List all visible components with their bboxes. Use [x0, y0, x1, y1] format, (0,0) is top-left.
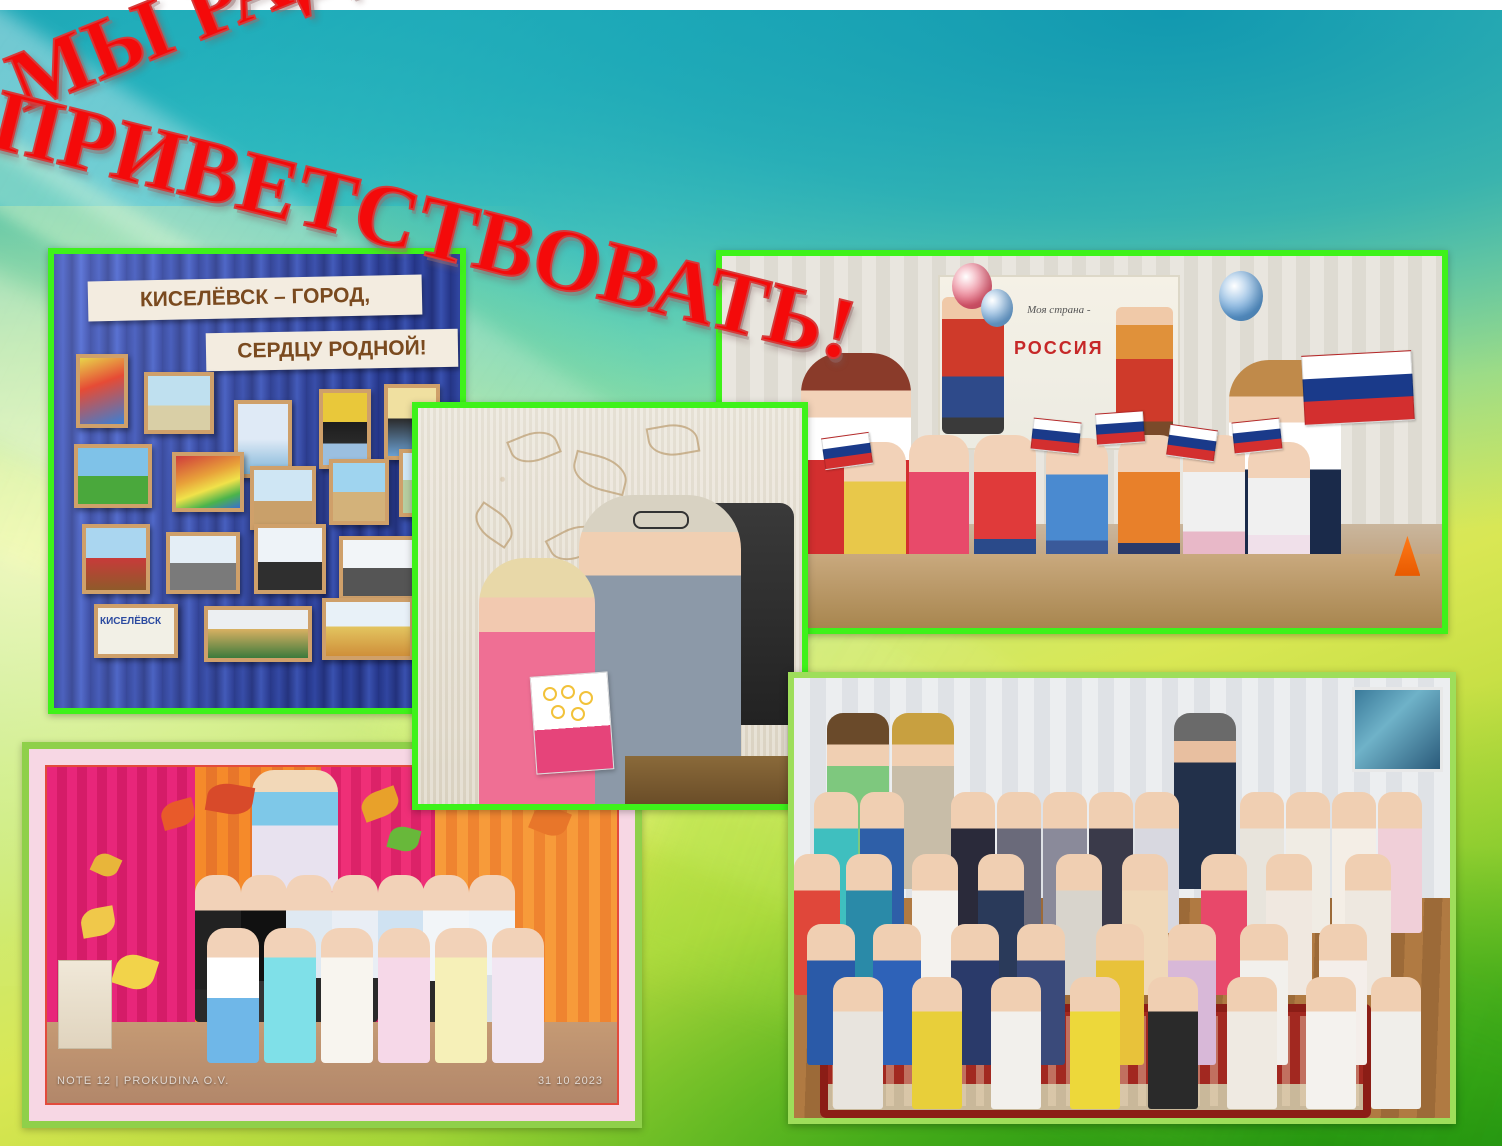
wall-sign-line-1: КИСЕЛЁВСК – ГОРОД,	[88, 275, 423, 322]
small-cabinet	[58, 960, 111, 1049]
balloon-blue	[1219, 271, 1263, 321]
child-drawing	[144, 372, 214, 434]
child-drawing	[322, 598, 414, 660]
russian-flag	[1232, 417, 1283, 454]
russian-flag	[1095, 411, 1145, 446]
child-figure	[1227, 977, 1277, 1109]
child-figure	[1070, 977, 1120, 1109]
child-drawing	[339, 536, 417, 600]
paper-flower	[561, 685, 575, 699]
photo-girl-and-teacher-with-card[interactable]: Девочка и женщина с открыткой	[412, 402, 808, 810]
child-figure	[1371, 977, 1421, 1109]
russian-flag	[821, 431, 873, 469]
photo-kiselevsk-wall-display[interactable]: КИСЕЛЁВСК – ГОРОД, СЕРДЦУ РОДНОЙ! КИСЕЛЁ…	[48, 248, 466, 714]
child-figure	[991, 977, 1041, 1109]
glasses-icon	[633, 511, 689, 529]
child-drawing	[254, 524, 326, 594]
paper-flower	[579, 691, 593, 705]
child-drawing	[172, 452, 244, 512]
child-drawing-labelled: КИСЕЛЁВСК	[94, 604, 178, 658]
russian-flag-large	[1301, 350, 1415, 426]
child-drawing	[250, 466, 316, 530]
page-title: МЫ РАДЫ ВАС ПРИВЕТСТВОВАТЬ!	[0, 38, 1502, 114]
photo-5-content	[794, 678, 1450, 1118]
parquet-floor	[722, 554, 1442, 628]
photo-date-stamp: 31 10 2023	[538, 1075, 603, 1087]
poster-canvas: МЫ РАДЫ ВАС ПРИВЕТСТВОВАТЬ! КИСЕЛЁВСК – …	[0, 0, 1502, 1146]
girl-figure	[207, 928, 259, 1062]
child-figure	[1148, 977, 1198, 1109]
girl-figure	[321, 928, 373, 1062]
paper-flower	[543, 687, 557, 701]
photo-large-group-with-staff[interactable]: Общая фотография группы детей с воспитат…	[788, 672, 1456, 1124]
paper-flower	[551, 705, 565, 719]
child-drawing	[204, 606, 312, 662]
photo-4-caption: Дети в нарядных костюмах на утреннике	[38, 758, 39, 759]
child-drawing	[166, 532, 240, 594]
child-figure	[833, 977, 883, 1109]
child-figure	[1306, 977, 1356, 1109]
girl-figure	[492, 928, 544, 1062]
paper-flower	[571, 707, 585, 721]
girl-figure	[378, 928, 430, 1062]
title-line-1: МЫ РАДЫ ВАС	[0, 31, 47, 72]
child-drawing	[319, 389, 371, 469]
russian-flag	[1030, 417, 1081, 454]
photo-1-content: КИСЕЛЁВСК – ГОРОД, СЕРДЦУ РОДНОЙ! КИСЕЛЁ…	[54, 254, 460, 708]
wall-sign-line-2: СЕРДЦУ РОДНОЙ!	[206, 329, 459, 371]
photo-3-content	[418, 408, 802, 804]
girl-figure	[435, 928, 487, 1062]
wooden-desk	[625, 756, 802, 804]
title-line-2: ПРИВЕТСТВОВАТЬ!	[0, 78, 55, 120]
child-figure	[912, 977, 962, 1109]
drawing-label: КИСЕЛЁВСК	[100, 616, 161, 627]
stained-glass-window	[1352, 687, 1443, 772]
photo-4-content: NOTE 12 | PROKUDINA O.V. 31 10 2023	[45, 765, 619, 1105]
child-drawing	[329, 459, 389, 525]
child-drawing	[74, 444, 152, 508]
banner-title: РОССИЯ	[1014, 338, 1104, 359]
girl-figure	[264, 928, 316, 1062]
folk-doll-decoration	[252, 770, 338, 891]
banner-subtitle: Моя страна -	[1027, 304, 1090, 316]
child-drawing	[82, 524, 150, 594]
paper-flowers	[541, 685, 601, 725]
russian-flag	[1166, 424, 1218, 462]
photo-watermark: NOTE 12 | PROKUDINA O.V.	[57, 1075, 229, 1087]
child-drawing	[76, 354, 128, 428]
